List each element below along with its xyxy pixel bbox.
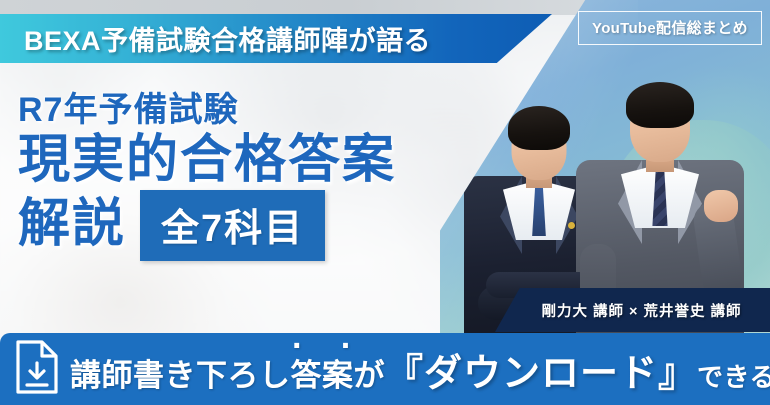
- headline-line-2: 現実的合格答案: [18, 134, 518, 188]
- cta-text-emphasis: 答案: [291, 350, 354, 395]
- download-cta-bar[interactable]: 講師書き下ろし 答案 が 『ダウンロード』 できる！: [0, 333, 770, 405]
- cta-text-suffix: できる！: [697, 357, 770, 394]
- instructor-names-label: 剛力大 講師 × 荒井誉史 講師: [523, 300, 741, 321]
- left-lapel-badge-icon: [568, 222, 575, 229]
- main-headline-block: R7年予備試験 現実的合格答案 解説 全7科目: [18, 92, 518, 261]
- right-hair: [626, 82, 694, 128]
- top-headline-label: BEXA予備試験合格講師陣が語る: [24, 19, 431, 58]
- document-download-icon: [14, 339, 60, 400]
- headline-line-1: R7年予備試験: [18, 92, 518, 128]
- headline-line-3: 解説: [18, 198, 126, 252]
- promo-banner: BEXA予備試験合格講師陣が語る YouTube配信総まとめ R7年予備試験 現…: [0, 0, 770, 405]
- top-headline-banner: BEXA予備試験合格講師陣が語る: [0, 14, 552, 63]
- cta-text-download: 『ダウンロード』: [385, 342, 697, 397]
- youtube-summary-tag: YouTube配信総まとめ: [578, 11, 762, 45]
- subject-count-chip: 全7科目: [140, 190, 325, 261]
- instructor-name-bar: 剛力大 講師 × 荒井誉史 講師: [495, 288, 770, 332]
- download-cta-text: 講師書き下ろし 答案 が 『ダウンロード』 できる！: [70, 342, 770, 397]
- right-fist: [704, 190, 738, 222]
- cta-text-part1: 講師書き下ろし: [70, 350, 291, 395]
- headline-line-3-row: 解説 全7科目: [18, 190, 518, 261]
